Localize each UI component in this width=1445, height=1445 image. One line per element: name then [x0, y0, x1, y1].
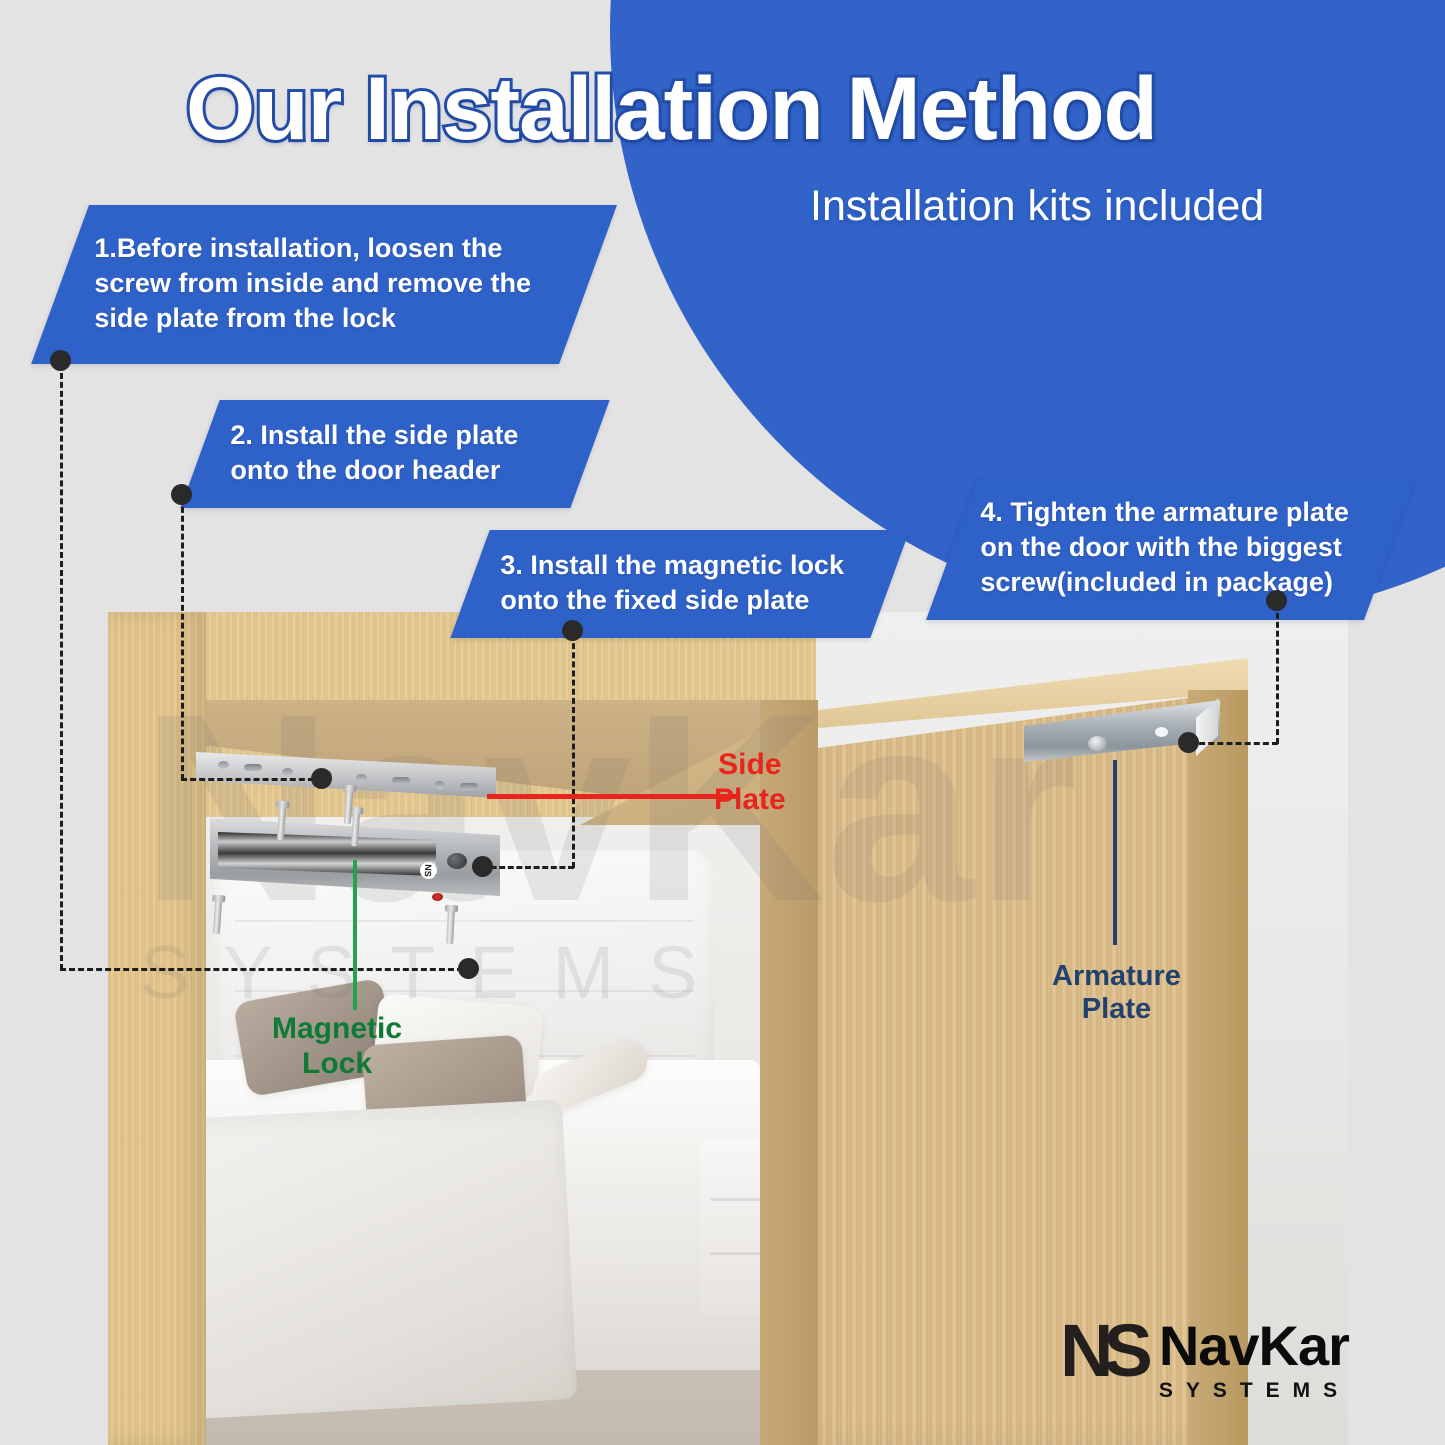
status-led: [432, 893, 443, 901]
label-side-plate-line1: SidePlate: [714, 748, 786, 816]
callout-step-1-text: 1.Before installation, loosen the screw …: [94, 231, 554, 336]
connector-step1-horizontal: [60, 968, 472, 971]
callout-step-3[interactable]: 3. Install the magnetic lock onto the fi…: [450, 530, 909, 638]
door-frame-left-jamb: [108, 612, 206, 1445]
connector-dot-step1-end: [458, 958, 479, 979]
connector-step3-horizontal: [482, 866, 574, 869]
callout-step-3-text: 3. Install the magnetic lock onto the fi…: [500, 548, 860, 618]
brand-logo-text: NavKar SYSTEMS: [1159, 1318, 1350, 1403]
callout-step-2-text: 2. Install the side plate onto the door …: [230, 418, 560, 488]
infographic-canvas: Our Installation Method Installation kit…: [0, 0, 1445, 1445]
brand-tagline: SYSTEMS: [1159, 1379, 1350, 1403]
connector-dot-step4-end: [1178, 732, 1199, 753]
brand-logo: NS NavKar SYSTEMS: [1060, 1318, 1350, 1403]
side-plate-leader-line: [487, 794, 739, 799]
connector-dot-step3-end: [472, 856, 493, 877]
connector-step3-vertical: [572, 634, 575, 868]
magnetic-lock-knob: [447, 853, 467, 869]
callout-step-1[interactable]: 1.Before installation, loosen the screw …: [31, 205, 617, 364]
callout-step-4[interactable]: 4. Tighten the armature plate on the doo…: [926, 477, 1416, 620]
connector-dot-step4-start: [1266, 590, 1287, 611]
label-armature-plate: ArmaturePlate: [1052, 960, 1181, 1027]
brand-name: NavKar: [1159, 1318, 1350, 1374]
connector-step2-vertical: [181, 498, 184, 780]
armature-plate-leader-line: [1113, 760, 1117, 945]
ns-monogram-icon: NS: [1060, 1318, 1143, 1385]
callout-step-2[interactable]: 2. Install the side plate onto the door …: [180, 400, 609, 508]
callout-step-4-text: 4. Tighten the armature plate on the doo…: [980, 495, 1362, 600]
label-magnetic-lock-line1: MagneticLock: [272, 1012, 402, 1080]
label-armature-plate-line1: ArmaturePlate: [1052, 960, 1181, 1025]
connector-dot-step1-start: [50, 350, 71, 371]
armature-plate-hole: [1155, 727, 1168, 737]
connector-dot-step2-end: [311, 768, 332, 789]
connector-step1-vertical: [60, 364, 63, 970]
connector-step2-horizontal: [181, 778, 323, 781]
armature-plate-screw: [1088, 736, 1107, 751]
duvet: [200, 1099, 578, 1421]
connector-dot-step2-start: [171, 484, 192, 505]
label-magnetic-lock: MagneticLock: [272, 1012, 402, 1081]
connector-dot-step3-start: [562, 620, 583, 641]
magnetic-lock-leader-line: [353, 860, 357, 1010]
connector-step4-vertical: [1276, 604, 1279, 744]
label-side-plate: SidePlate: [714, 748, 786, 817]
connector-step4-horizontal: [1190, 742, 1278, 745]
